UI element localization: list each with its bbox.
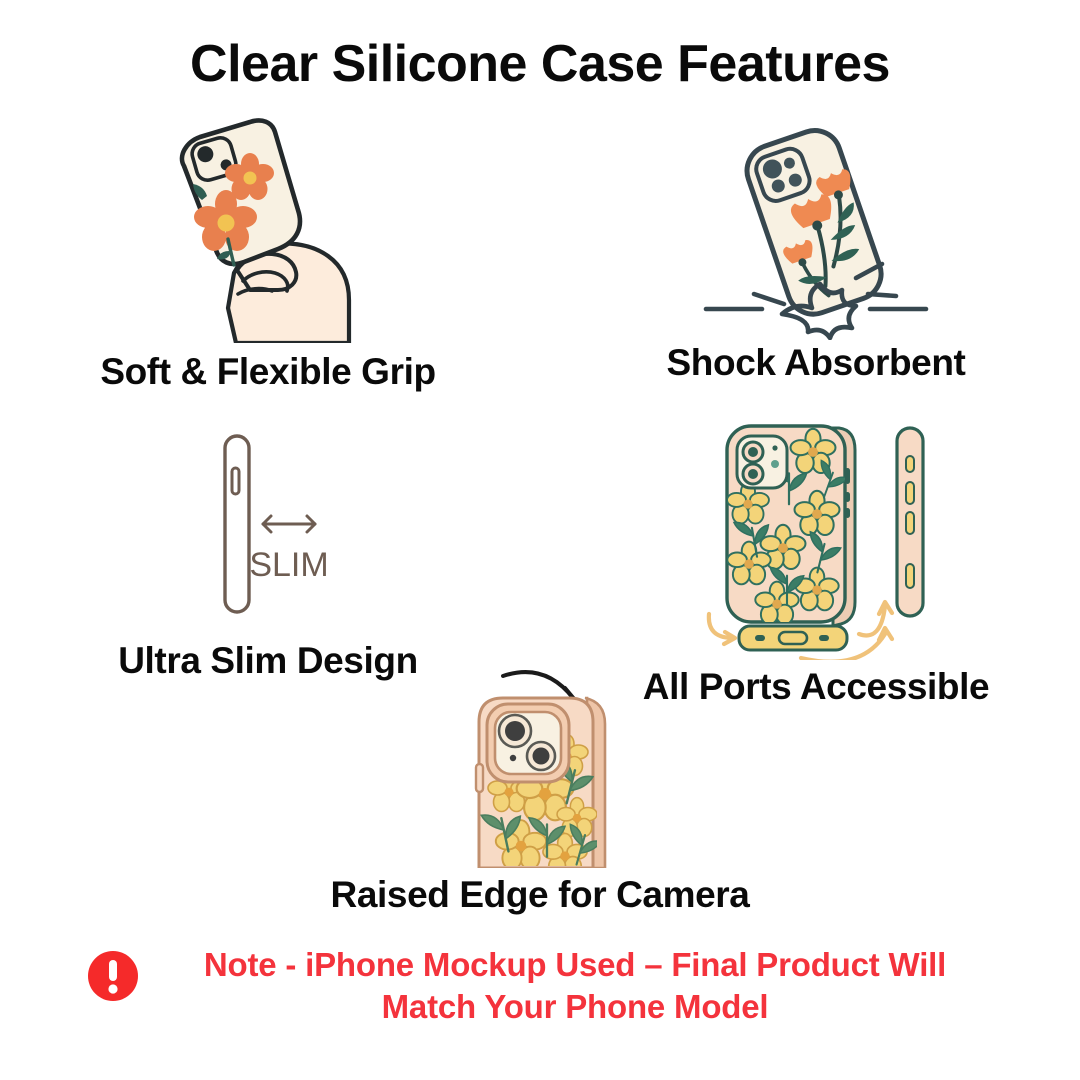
note-banner: Note - iPhone Mockup Used – Final Produc… [0, 944, 1080, 1028]
phone-raised-camera-bump-icon [290, 660, 790, 868]
infographic-page: Clear Silicone Case Features [0, 0, 1080, 1080]
feature-label: Shock Absorbent [566, 342, 1066, 384]
page-title: Clear Silicone Case Features [0, 34, 1080, 94]
exclamation-circle-icon [85, 948, 141, 1009]
phone-side-profile-thickness-icon: SLIM [18, 424, 518, 624]
feature-soft-flexible-grip: Soft & Flexible Grip [18, 118, 518, 393]
slim-callout-label: SLIM [249, 546, 328, 584]
feature-shock-absorbent: Shock Absorbent [566, 118, 1066, 384]
feature-ultra-slim-design: SLIM Ultra Slim Design [18, 424, 518, 682]
hand-holding-flexing-phone-case-icon [18, 118, 518, 343]
phone-ports-side-and-bottom-icon [566, 418, 1066, 660]
feature-raised-edge-for-camera: Raised Edge for Camera [290, 660, 790, 916]
note-text: Note - iPhone Mockup Used – Final Produc… [155, 944, 995, 1028]
feature-label: Raised Edge for Camera [290, 874, 790, 916]
phone-impact-burst-icon [566, 118, 1066, 340]
feature-label: Soft & Flexible Grip [18, 351, 518, 393]
